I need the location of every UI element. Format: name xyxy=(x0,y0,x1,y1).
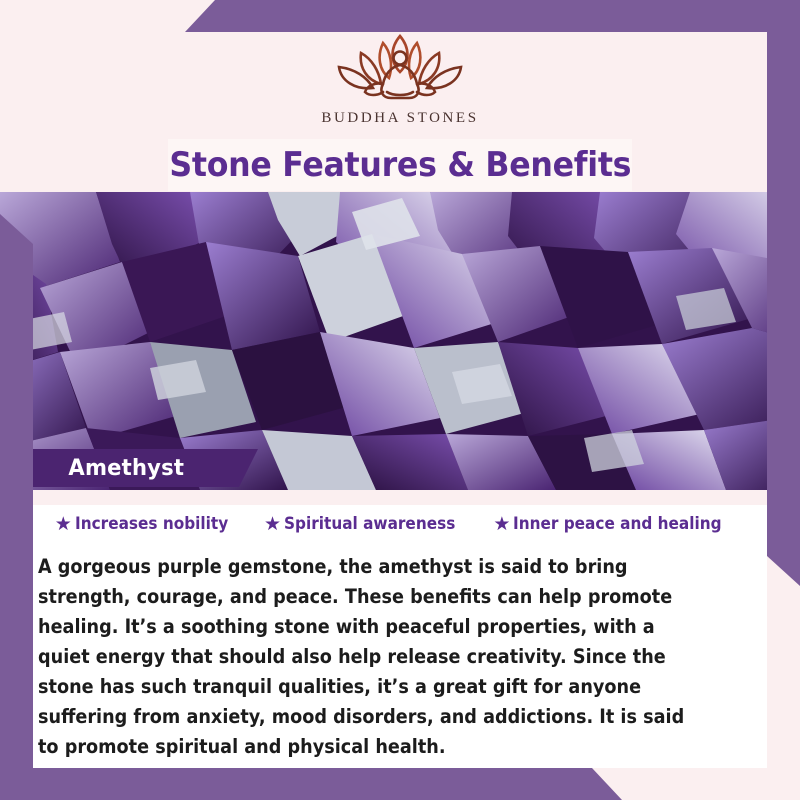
frame-left-border xyxy=(0,214,33,800)
content-panel: ★ Increases nobility ★ Spiritual awarene… xyxy=(33,490,767,768)
feature-item: ★ Inner peace and healing xyxy=(493,514,745,534)
stone-name-banner: Amethyst xyxy=(33,449,258,487)
feature-label: Increases nobility xyxy=(75,514,228,534)
feature-label: Spiritual awareness xyxy=(284,514,455,534)
page-title: Stone Features & Benefits xyxy=(169,145,631,185)
product-infographic: BUDDHA STONES Stone Features & Benefits … xyxy=(0,0,800,800)
frame-right-border xyxy=(767,0,800,586)
panel-top-fade xyxy=(33,490,767,505)
stone-name-label: Amethyst xyxy=(68,456,184,481)
amethyst-hero-image xyxy=(0,192,800,490)
frame-bottom-border xyxy=(0,768,800,800)
lotus-meditation-logo-icon xyxy=(325,26,475,106)
star-icon: ★ xyxy=(493,515,510,534)
feature-list: ★ Increases nobility ★ Spiritual awarene… xyxy=(33,514,767,534)
star-icon: ★ xyxy=(264,515,281,534)
star-icon: ★ xyxy=(55,515,72,534)
brand-logo: BUDDHA STONES xyxy=(0,26,800,127)
brand-name: BUDDHA STONES xyxy=(321,110,478,127)
feature-label: Inner peace and healing xyxy=(513,514,722,534)
feature-item: ★ Spiritual awareness xyxy=(264,514,474,534)
feature-item: ★ Increases nobility xyxy=(55,514,245,534)
stone-description: A gorgeous purple gemstone, the amethyst… xyxy=(38,552,695,762)
title-band: Stone Features & Benefits xyxy=(168,139,632,191)
amethyst-crystal-illustration xyxy=(0,192,800,490)
